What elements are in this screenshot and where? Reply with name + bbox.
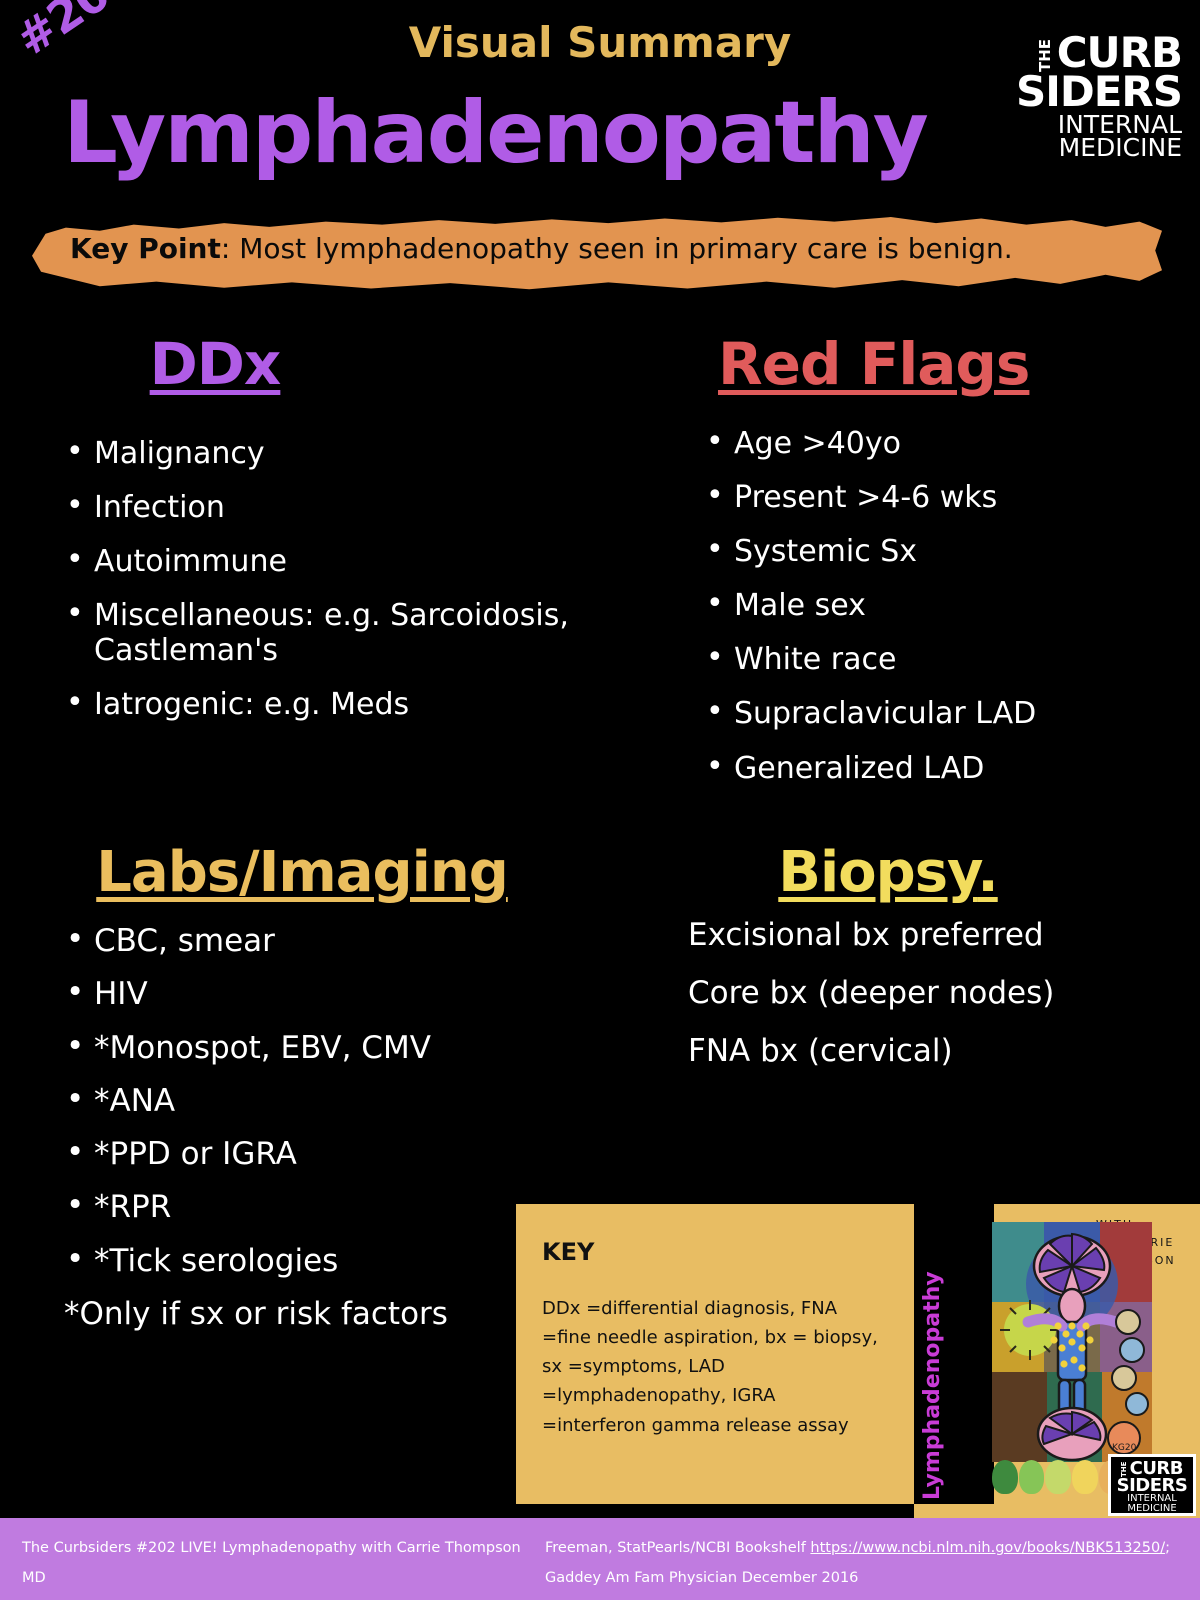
biopsy-line: Excisional bx preferred bbox=[688, 917, 1128, 953]
infographic-page: #201 Visual Summary Lymphadenopathy THE … bbox=[0, 0, 1200, 1600]
key-point-label: Key Point bbox=[70, 232, 221, 265]
list-item: White race bbox=[700, 642, 1160, 677]
logo-small-medicine: MEDICINE bbox=[1111, 1504, 1193, 1514]
logo-medicine: MEDICINE bbox=[1007, 136, 1182, 159]
logo-small-siders: SIDERS bbox=[1111, 1477, 1193, 1494]
footer-text: Gaddey Am Fam Physician December 2016 bbox=[545, 1570, 858, 1586]
section-biopsy: Biopsy. Excisional bx preferred Core bx … bbox=[688, 840, 1128, 1069]
list-item: *PPD or IGRA bbox=[42, 1136, 602, 1172]
footer-text: Freeman, StatPearls/NCBI Bookshelf bbox=[545, 1540, 810, 1556]
footer-citations: The Curbsiders #202 LIVE! Lymphadenopath… bbox=[0, 1518, 1200, 1600]
swatch bbox=[992, 1460, 1018, 1494]
list-item: CBC, smear bbox=[42, 923, 602, 959]
curbsiders-logo: THE CURB SIDERS INTERNAL MEDICINE bbox=[1007, 34, 1182, 159]
footer-link[interactable]: https://www.ncbi.nlm.nih.gov/books/NBK51… bbox=[810, 1540, 1165, 1556]
section-ddx: DDx Malignancy Infection Autoimmune Misc… bbox=[60, 330, 640, 742]
list-item: Iatrogenic: e.g. Meds bbox=[60, 687, 640, 722]
list-item: HIV bbox=[42, 976, 602, 1012]
footer-line: The Curbsiders #202 LIVE! Lymphadenopath… bbox=[22, 1534, 542, 1593]
section-biopsy-title-suffix: . bbox=[977, 840, 997, 905]
list-item: *ANA bbox=[42, 1083, 602, 1119]
footer-left-column: The Curbsiders #202 LIVE! Lymphadenopath… bbox=[22, 1534, 542, 1600]
key-point-separator: : bbox=[221, 232, 239, 265]
logo-the: THE bbox=[1038, 39, 1053, 73]
swatch bbox=[1019, 1460, 1045, 1494]
list-item: Generalized LAD bbox=[700, 751, 1160, 786]
curbsiders-logo-small: THE CURB SIDERS INTERNAL MEDICINE bbox=[1108, 1454, 1196, 1516]
section-red-flags: Red Flags Age >40yo Present >4-6 wks Sys… bbox=[700, 330, 1160, 805]
list-item: Infection bbox=[60, 490, 640, 525]
list-item: Male sex bbox=[700, 588, 1160, 623]
key-legend-body: DDx =differential diagnosis, FNA =fine n… bbox=[542, 1294, 884, 1440]
key-point-banner: Key Point: Most lymphadenopathy seen in … bbox=[0, 200, 1200, 300]
list-item: Supraclavicular LAD bbox=[700, 696, 1160, 731]
section-ddx-list: Malignancy Infection Autoimmune Miscella… bbox=[60, 436, 640, 723]
podcast-cover-panel: Lymphadenopathy WITH DR CARRIE THOMPSON bbox=[914, 1204, 1200, 1518]
biopsy-line: Core bx (deeper nodes) bbox=[688, 975, 1128, 1011]
svg-text:KG20: KG20 bbox=[1112, 1443, 1137, 1453]
list-item: Present >4-6 wks bbox=[700, 480, 1160, 515]
key-point-body: Most lymphadenopathy seen in primary car… bbox=[239, 232, 1012, 265]
section-labs-imaging-title: Labs/Imaging bbox=[42, 840, 562, 905]
list-item: *Monospot, EBV, CMV bbox=[42, 1030, 602, 1066]
list-item: Age >40yo bbox=[700, 426, 1160, 461]
footer-tail: ; bbox=[1165, 1540, 1170, 1556]
list-item: Miscellaneous: e.g. Sarcoidosis, Castlem… bbox=[60, 598, 640, 668]
list-item: Autoimmune bbox=[60, 544, 640, 579]
footer-text: The Curbsiders #202 LIVE! Lymphadenopath… bbox=[22, 1540, 521, 1586]
logo-small-the: THE bbox=[1121, 1462, 1128, 1477]
section-red-flags-list: Age >40yo Present >4-6 wks Systemic Sx M… bbox=[700, 426, 1160, 786]
swatch bbox=[1072, 1460, 1098, 1494]
swatch bbox=[1045, 1460, 1071, 1494]
biopsy-line: FNA bx (cervical) bbox=[688, 1033, 1128, 1069]
footer-line: Freeman, StatPearls/NCBI Bookshelf https… bbox=[545, 1534, 1195, 1564]
section-red-flags-title: Red Flags bbox=[718, 330, 1160, 398]
list-item: Systemic Sx bbox=[700, 534, 1160, 569]
art-panel-vertical-title: Lymphadenopathy bbox=[920, 1218, 945, 1500]
logo-siders: SIDERS bbox=[1007, 73, 1182, 112]
footer-line: Gaddey Am Fam Physician December 2016 ht… bbox=[545, 1564, 1195, 1600]
key-legend-title: KEY bbox=[542, 1238, 884, 1266]
section-ddx-title: DDx bbox=[90, 330, 340, 398]
section-biopsy-title: Biopsy. bbox=[688, 840, 1088, 905]
cover-artwork-svg: KG20 bbox=[992, 1222, 1152, 1462]
key-point-text: Key Point: Most lymphadenopathy seen in … bbox=[70, 234, 1110, 265]
list-item: Malignancy bbox=[60, 436, 640, 471]
key-legend-box: KEY DDx =differential diagnosis, FNA =fi… bbox=[516, 1204, 914, 1504]
footer-right-column: Freeman, StatPearls/NCBI Bookshelf https… bbox=[545, 1534, 1195, 1600]
cover-artwork-image: KG20 bbox=[992, 1222, 1152, 1462]
footer-line: Fijten, J Fam Pract. 1988 https://www.nc… bbox=[22, 1593, 542, 1600]
page-title: Lymphadenopathy bbox=[0, 90, 990, 176]
